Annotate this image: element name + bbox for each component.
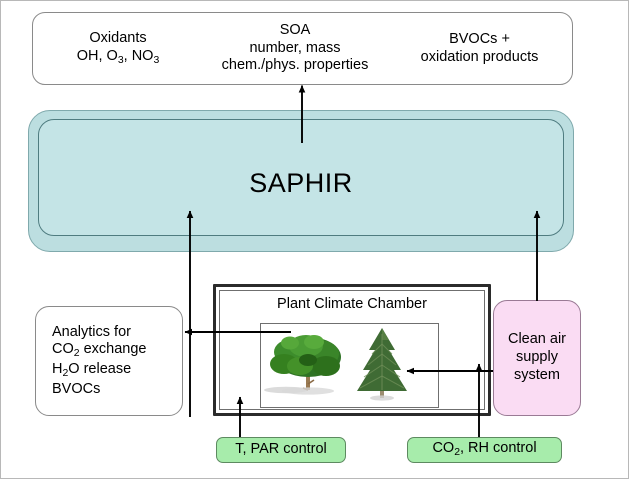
diagram-canvas: Oxidants OH, O3, NO3 SOA number, mass ch… — [0, 0, 629, 479]
bvocs-line-2: oxidation products — [387, 49, 572, 67]
soa-line-2: number, mass — [203, 40, 387, 58]
products-column-soa: SOA number, mass chem./phys. properties — [203, 22, 387, 75]
products-box: Oxidants OH, O3, NO3 SOA number, mass ch… — [32, 12, 573, 85]
deciduous-tree-icon — [264, 335, 341, 395]
clean-air-supply-box: Clean air supply system — [493, 300, 581, 416]
oxidants-line-1: Oxidants — [33, 30, 203, 48]
clean-air-line-3: system — [508, 367, 566, 385]
saphir-chamber: SAPHIR — [28, 110, 574, 252]
t-par-control-box: T, PAR control — [216, 437, 346, 463]
co2-rh-control-box: CO2, RH control — [407, 437, 562, 463]
clean-air-line-2: supply — [508, 349, 566, 367]
soa-line-1: SOA — [203, 22, 387, 40]
analytics-box: Analytics for CO2 exchange H2O release B… — [35, 306, 183, 416]
clean-air-line-1: Clean air — [508, 331, 566, 349]
products-column-oxidants: Oxidants OH, O3, NO3 — [33, 30, 203, 67]
analytics-line-3: H2O release — [52, 361, 146, 381]
analytics-line-4: BVOCs — [52, 381, 146, 399]
chamber-plant-viewport — [260, 323, 439, 408]
oxidants-line-2: OH, O3, NO3 — [33, 48, 203, 68]
t-par-control-label: T, PAR control — [235, 441, 327, 459]
saphir-label: SAPHIR — [29, 167, 573, 200]
bvocs-line-1: BVOCs + — [387, 31, 572, 49]
products-column-bvocs: BVOCs + oxidation products — [387, 31, 572, 66]
soa-line-3: chem./phys. properties — [203, 57, 387, 75]
analytics-line-1: Analytics for — [52, 324, 146, 342]
analytics-line-2: CO2 exchange — [52, 341, 146, 361]
trees-illustration — [262, 324, 437, 405]
plant-climate-chamber: Plant Climate Chamber — [213, 284, 491, 416]
chamber-title: Plant Climate Chamber — [216, 296, 488, 314]
conifer-tree-icon — [357, 328, 407, 401]
co2-rh-control-label: CO2, RH control — [432, 440, 536, 460]
